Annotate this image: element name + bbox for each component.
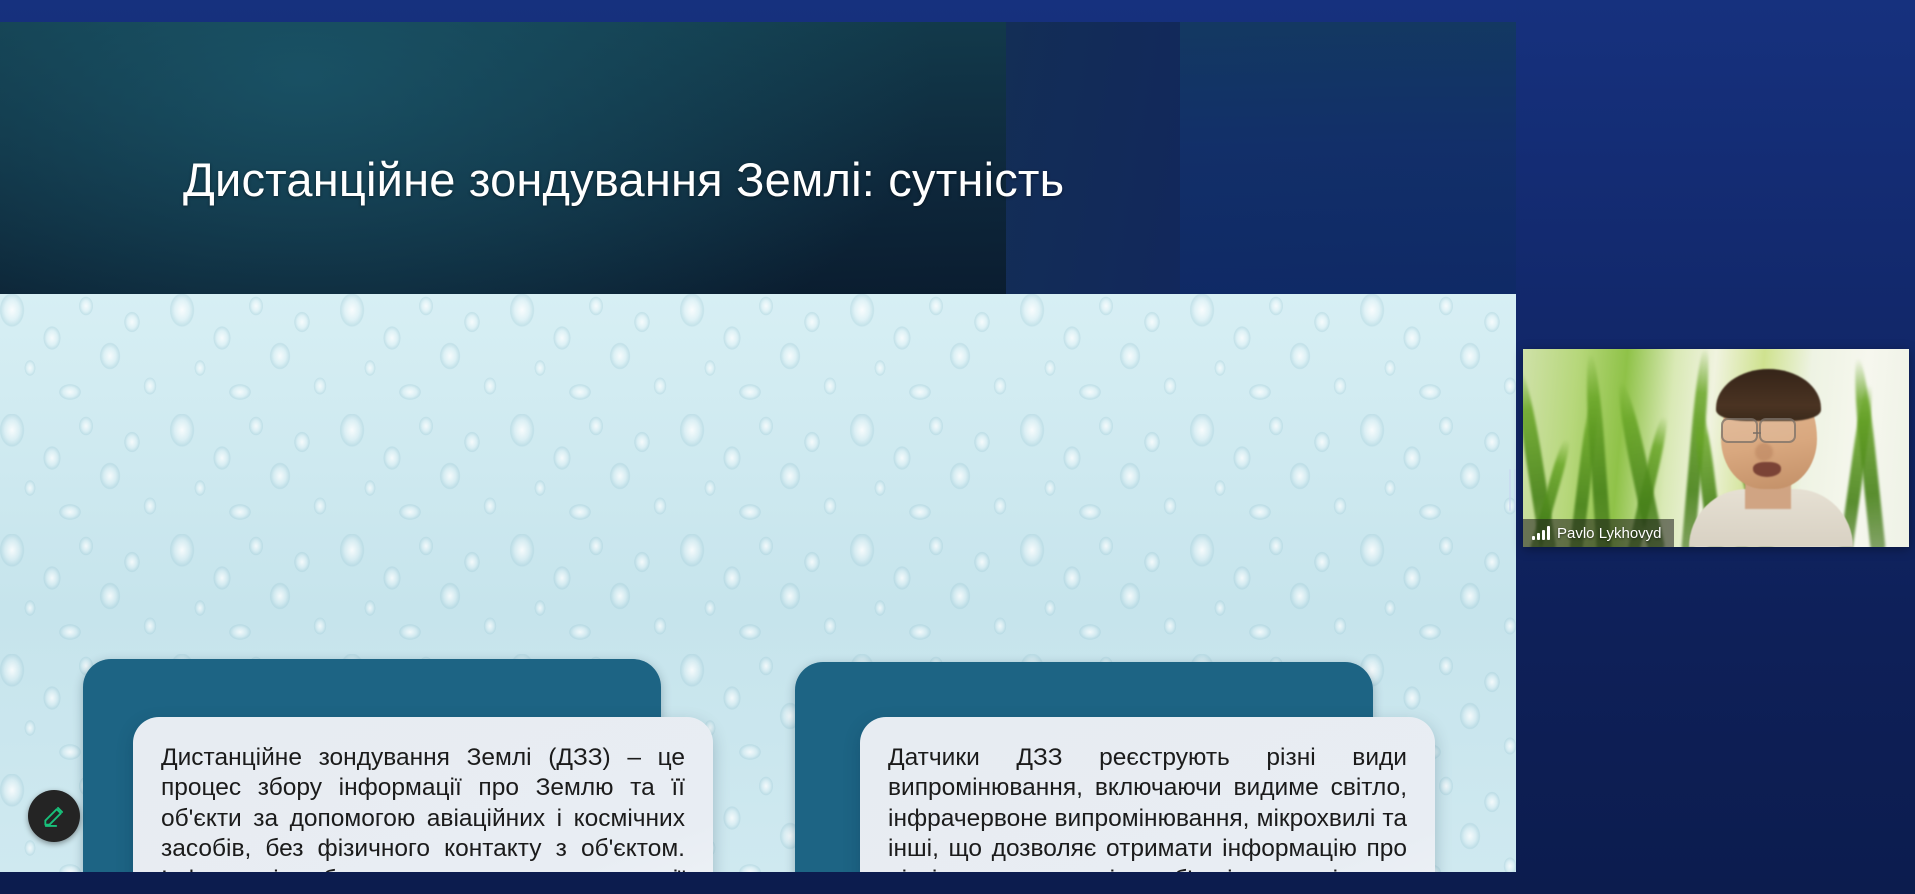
card-left-text: Дистанційне зондування Землі (ДЗЗ) – це … (161, 743, 685, 872)
card-right-text: Датчики ДЗЗ реєструють різні види випром… (888, 743, 1407, 872)
card-right-surface: Датчики ДЗЗ реєструють різні види випром… (860, 717, 1435, 872)
card-left-surface: Дистанційне зондування Землі (ДЗЗ) – це … (133, 717, 713, 872)
drag-handle-bar (1509, 469, 1511, 511)
participant-name-badge: Pavlo Lykhovyd (1523, 519, 1674, 547)
meeting-screen: Дистанційне зондування Землі: сутність Д… (0, 0, 1915, 894)
drag-handle-bar (1514, 469, 1516, 511)
participant-mouth (1753, 462, 1781, 477)
pencil-edit-icon (41, 803, 67, 829)
signal-bars-icon (1532, 526, 1550, 540)
content-card-right: Датчики ДЗЗ реєструють різні види випром… (795, 662, 1375, 872)
participant-name-label: Pavlo Lykhovyd (1557, 525, 1662, 542)
participant-video-tile[interactable]: Pavlo Lykhovyd (1523, 349, 1909, 547)
annotate-button[interactable] (28, 790, 80, 842)
slide-body: Дистанційне зондування Землі (ДЗЗ) – це … (0, 294, 1516, 872)
shared-slide[interactable]: Дистанційне зондування Землі: сутність Д… (0, 22, 1516, 872)
participant-avatar-video (1683, 375, 1855, 547)
eyeglasses-right-lens (1759, 418, 1796, 443)
content-card-left: Дистанційне зондування Землі (ДЗЗ) – це … (83, 659, 663, 872)
video-tile-drag-handle[interactable] (1506, 469, 1518, 511)
eyeglasses-bridge (1753, 432, 1761, 434)
participant-nose (1755, 443, 1773, 461)
participant-hair (1716, 369, 1821, 421)
slide-title: Дистанційне зондування Землі: сутність (183, 152, 1064, 207)
eyeglasses-left-lens (1721, 418, 1758, 443)
